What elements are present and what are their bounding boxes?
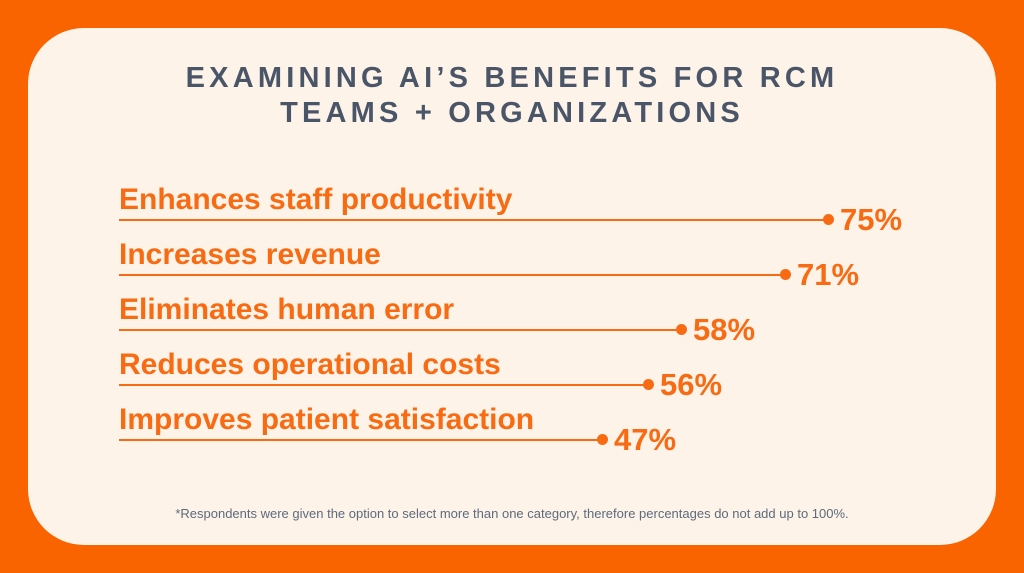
chart-row-dot	[780, 269, 791, 280]
chart-row-bar	[119, 384, 648, 386]
infographic-card: EXAMINING AI’S BENEFITS FOR RCM TEAMS + …	[28, 28, 996, 545]
title-line-1: EXAMINING AI’S BENEFITS FOR RCM	[28, 61, 996, 96]
chart-row-bar	[119, 274, 785, 276]
chart-row-label: Eliminates human error	[119, 294, 454, 326]
chart-row-value: 71%	[797, 258, 859, 291]
chart-row-bar	[119, 329, 681, 331]
chart-row: Increases revenue 71%	[119, 233, 979, 288]
chart-row-dot	[823, 214, 834, 225]
chart-row-dot	[676, 324, 687, 335]
chart-row-dot	[597, 434, 608, 445]
chart-row-label: Increases revenue	[119, 239, 381, 271]
title-line-2: TEAMS + ORGANIZATIONS	[28, 96, 996, 131]
chart-row: Eliminates human error 58%	[119, 288, 979, 343]
chart-row: Improves patient satisfaction 47%	[119, 398, 979, 453]
chart-row-label: Improves patient satisfaction	[119, 404, 534, 436]
chart-row-bar	[119, 219, 828, 221]
chart-row-value: 58%	[693, 313, 755, 346]
chart-row: Enhances staff productivity 75%	[119, 178, 979, 233]
footnote: *Respondents were given the option to se…	[28, 505, 996, 522]
chart-row-label: Reduces operational costs	[119, 349, 501, 381]
chart-row-dot	[643, 379, 654, 390]
chart-row-value: 47%	[614, 423, 676, 456]
page-title: EXAMINING AI’S BENEFITS FOR RCM TEAMS + …	[28, 61, 996, 131]
infographic-frame: EXAMINING AI’S BENEFITS FOR RCM TEAMS + …	[0, 0, 1024, 573]
chart-row-value: 75%	[840, 203, 902, 236]
chart-row-bar	[119, 439, 602, 441]
chart-row-value: 56%	[660, 368, 722, 401]
horizontal-bar-chart: Enhances staff productivity 75% Increase…	[119, 178, 979, 453]
chart-row: Reduces operational costs 56%	[119, 343, 979, 398]
chart-row-label: Enhances staff productivity	[119, 184, 512, 216]
